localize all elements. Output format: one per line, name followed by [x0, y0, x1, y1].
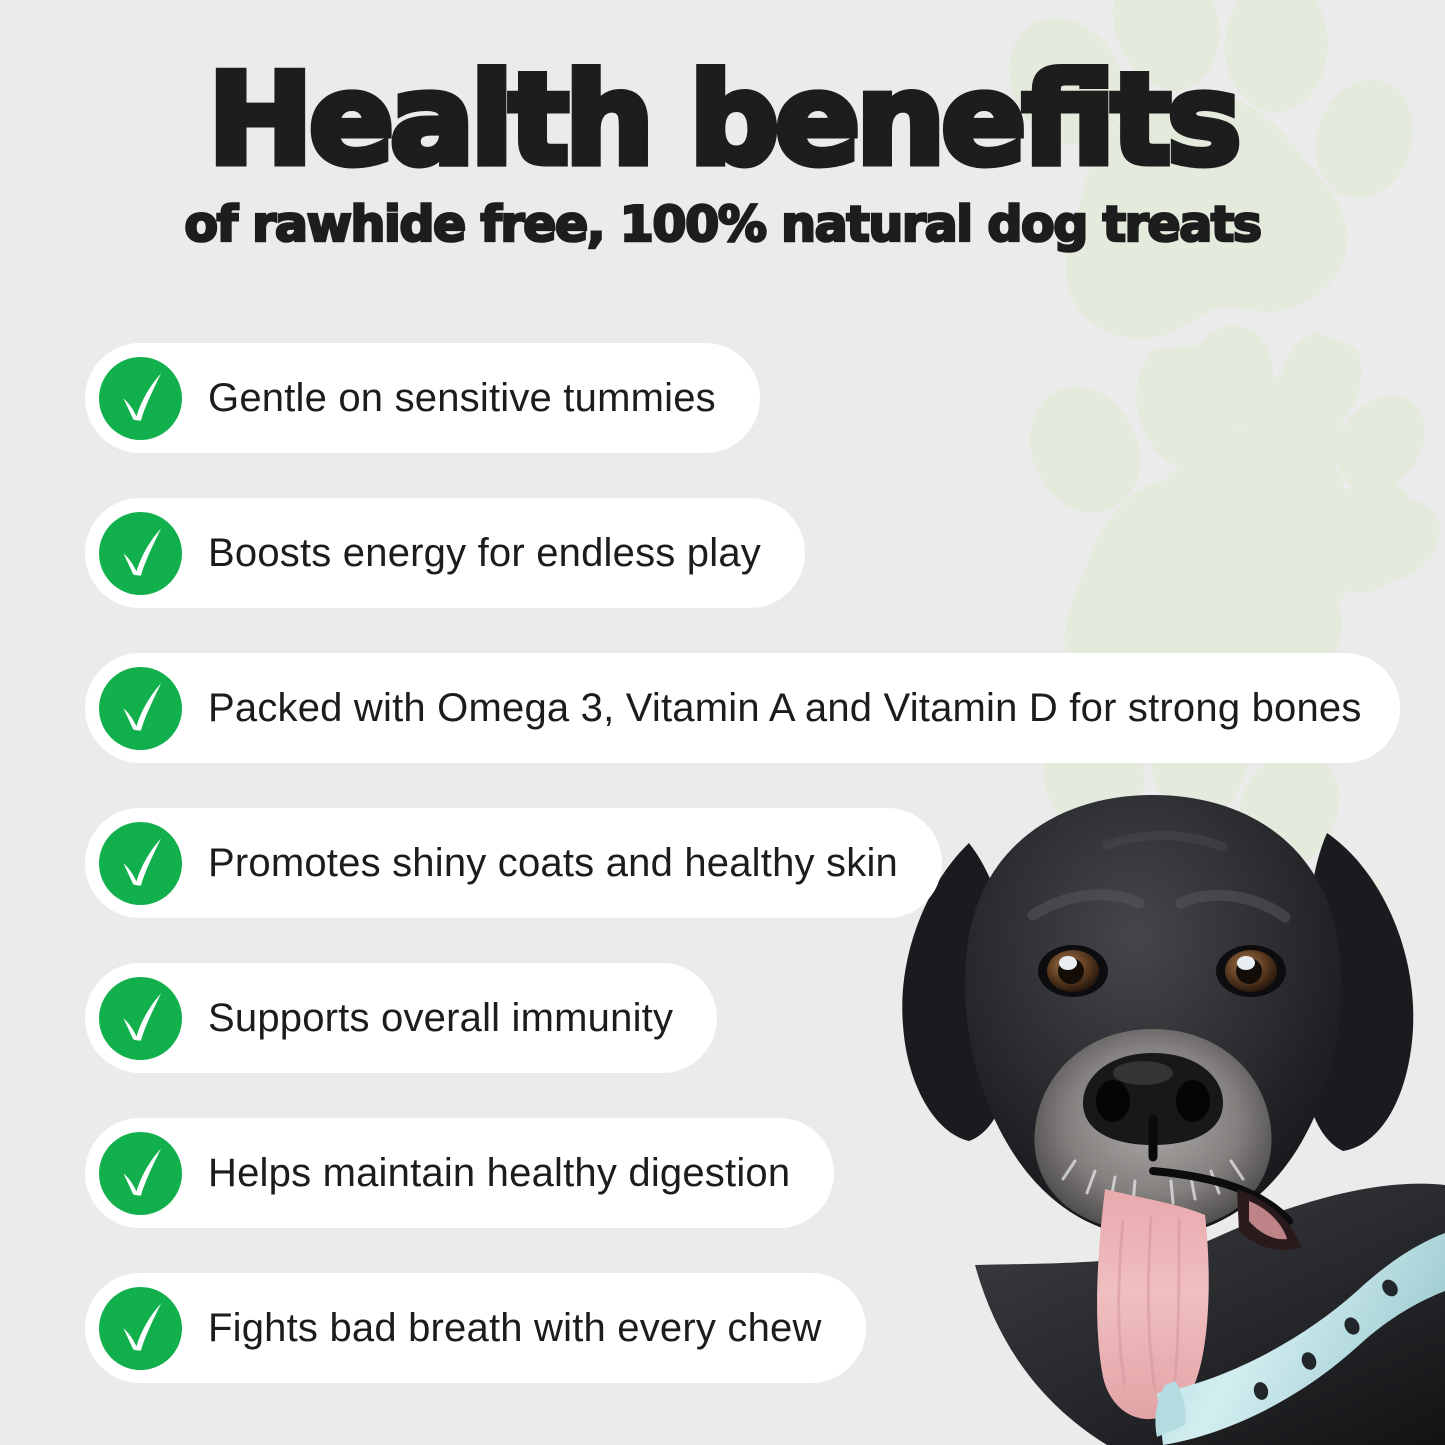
- benefit-item: Boosts energy for endless play: [85, 498, 805, 608]
- benefit-item: Packed with Omega 3, Vitamin A and Vitam…: [85, 653, 1400, 763]
- check-icon: [99, 667, 182, 750]
- benefit-item: Supports overall immunity: [85, 963, 717, 1073]
- header: Health benefits of rawhide free, 100% na…: [0, 0, 1445, 250]
- benefit-label: Gentle on sensitive tummies: [208, 376, 716, 420]
- check-icon: [99, 357, 182, 440]
- infographic-canvas: Health benefits of rawhide free, 100% na…: [0, 0, 1445, 1445]
- benefit-label: Promotes shiny coats and healthy skin: [208, 841, 898, 885]
- benefit-item: Fights bad breath with every chew: [85, 1273, 866, 1383]
- page-subtitle: of rawhide free, 100% natural dog treats: [0, 185, 1445, 250]
- check-icon: [99, 512, 182, 595]
- benefit-label: Supports overall immunity: [208, 996, 673, 1040]
- check-icon: [99, 1287, 182, 1370]
- page-title: Health benefits: [0, 0, 1445, 185]
- check-icon: [99, 977, 182, 1060]
- benefit-item: Helps maintain healthy digestion: [85, 1118, 834, 1228]
- benefit-item: Promotes shiny coats and healthy skin: [85, 808, 942, 918]
- benefit-label: Boosts energy for endless play: [208, 531, 761, 575]
- benefit-label: Fights bad breath with every chew: [208, 1306, 822, 1350]
- benefit-label: Packed with Omega 3, Vitamin A and Vitam…: [208, 686, 1362, 730]
- check-icon: [99, 1132, 182, 1215]
- benefit-label: Helps maintain healthy digestion: [208, 1151, 790, 1195]
- benefits-list: Gentle on sensitive tummiesBoosts energy…: [85, 343, 1400, 1383]
- check-icon: [99, 822, 182, 905]
- benefit-item: Gentle on sensitive tummies: [85, 343, 760, 453]
